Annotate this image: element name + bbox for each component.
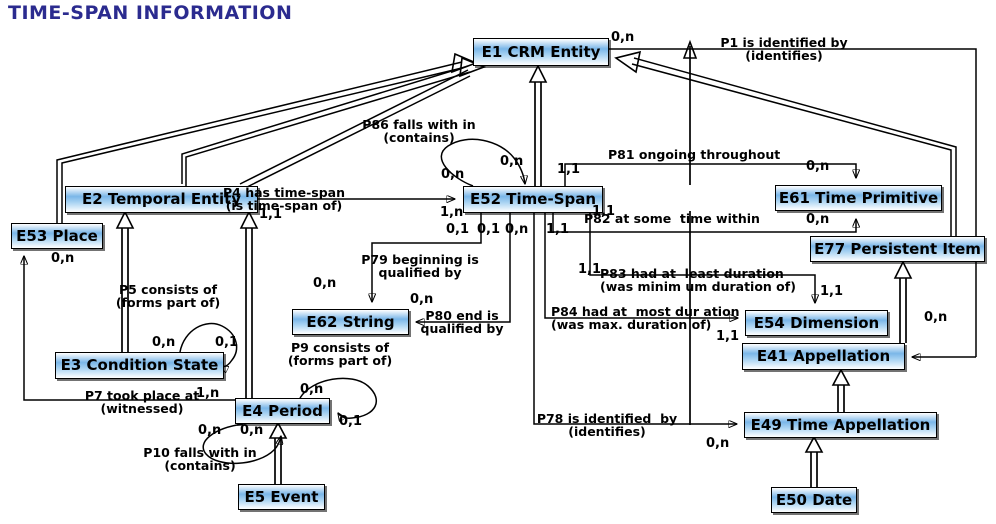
cardinality-label: 0,n xyxy=(198,424,221,438)
entity-box-e1[interactable]: E1 CRM Entity xyxy=(473,38,609,66)
relation-label-p10: P10 falls with in(contains) xyxy=(143,446,256,473)
cardinality-label: 0,n xyxy=(410,293,433,307)
relation-label-line1: P10 falls with in xyxy=(143,446,256,459)
entity-box-e52[interactable]: E52 Time-Span xyxy=(463,186,603,213)
entity-box-e3[interactable]: E3 Condition State xyxy=(55,352,224,379)
relation-label-p83: P83 had at least duration(was minim um d… xyxy=(600,267,796,294)
relation-label-p86: P86 falls with in(contains) xyxy=(362,118,475,145)
cardinality-label: 0,n xyxy=(611,31,634,45)
relation-label-line2: (is time-span of) xyxy=(223,199,345,212)
cardinality-label: 1,1 xyxy=(820,285,843,299)
relation-label-line1: P5 consists of xyxy=(116,283,220,296)
relation-label-p5: P5 consists of(forms part of) xyxy=(116,283,220,310)
relation-label-p1: P1 is identified by(identifies) xyxy=(720,36,847,63)
cardinality-label: 0,n xyxy=(51,252,74,266)
cardinality-label: 1,1 xyxy=(259,208,282,222)
relation-label-line1: P9 consists of xyxy=(288,341,392,354)
cardinality-label: 1,1 xyxy=(557,163,580,177)
relation-label-line2: qualified by xyxy=(421,322,504,335)
relation-label-line1: P84 had at most dur ation xyxy=(551,305,740,318)
cardinality-label: 0,n xyxy=(300,383,323,397)
entity-box-e5[interactable]: E5 Event xyxy=(238,484,325,510)
cardinality-label: 0,n xyxy=(152,336,175,350)
cardinality-label: 1,n xyxy=(196,387,219,401)
relation-label-line2: (witnessed) xyxy=(85,402,199,415)
entity-box-e49[interactable]: E49 Time Appellation xyxy=(744,412,937,438)
entity-box-e50[interactable]: E50 Date xyxy=(771,487,857,513)
relation-label-line1: P79 beginning is xyxy=(361,253,479,266)
cardinality-label: 0,n xyxy=(500,155,523,169)
entity-box-e61[interactable]: E61 Time Primitive xyxy=(775,185,942,211)
relation-label-p81: P81 ongoing throughout xyxy=(608,148,780,161)
cardinality-label: 0,n xyxy=(924,311,947,325)
entity-box-e54[interactable]: E54 Dimension xyxy=(745,310,888,336)
cardinality-label: 0,n xyxy=(806,160,829,174)
relation-label-p79: P79 beginning isqualified by xyxy=(361,253,479,280)
entity-box-e53[interactable]: E53 Place xyxy=(11,223,103,249)
relation-label-line2: (identifies) xyxy=(720,49,847,62)
relation-label-line2: (was max. duration of) xyxy=(551,318,740,331)
entity-box-e41[interactable]: E41 Appellation xyxy=(742,343,905,370)
relation-label-p7: P7 took place at(witnessed) xyxy=(85,389,199,416)
cardinality-label: 0,n xyxy=(240,424,263,438)
cardinality-label: 0,n xyxy=(313,277,336,291)
cardinality-label: 0,n xyxy=(706,437,729,451)
diagram-canvas: TIME-SPAN INFORMATION xyxy=(0,0,996,524)
relation-label-p78: P78 is identified by(identifies) xyxy=(537,412,677,439)
cardinality-label: 0,1 xyxy=(446,223,469,237)
relation-label-line1: P4 has time-span xyxy=(223,186,345,199)
relation-label-line2: (identifies) xyxy=(537,425,677,438)
relation-label-line1: P7 took place at xyxy=(85,389,199,402)
relation-label-p4: P4 has time-span(is time-span of) xyxy=(223,186,345,213)
relation-label-line1: P80 end is xyxy=(421,309,504,322)
cardinality-label: 1,1 xyxy=(592,205,615,219)
cardinality-label: 0,n xyxy=(505,223,528,237)
cardinality-label: 1,1 xyxy=(578,263,601,277)
cardinality-label: 0,1 xyxy=(215,336,238,350)
relation-label-line1: P1 is identified by xyxy=(720,36,847,49)
relation-label-line1: P81 ongoing throughout xyxy=(608,148,780,161)
relation-label-line2: (forms part of) xyxy=(116,296,220,309)
cardinality-label: 0,n xyxy=(441,168,464,182)
relation-label-line1: P86 falls with in xyxy=(362,118,475,131)
entity-box-e77[interactable]: E77 Persistent Item xyxy=(810,236,985,262)
relation-label-line1: P78 is identified by xyxy=(537,412,677,425)
cardinality-label: 1,1 xyxy=(716,330,739,344)
cardinality-label: 0,n xyxy=(806,213,829,227)
cardinality-label: 1,1 xyxy=(546,223,569,237)
entity-box-e62[interactable]: E62 String xyxy=(292,309,409,335)
relation-label-line1: P83 had at least duration xyxy=(600,267,796,280)
relation-label-line2: (was minim um duration of) xyxy=(600,280,796,293)
relation-label-line2: (contains) xyxy=(362,131,475,144)
relation-label-p80: P80 end isqualified by xyxy=(421,309,504,336)
cardinality-label: 1,n xyxy=(440,206,463,220)
entity-box-e4[interactable]: E4 Period xyxy=(235,398,330,424)
relation-label-p9: P9 consists of(forms part of) xyxy=(288,341,392,368)
relation-label-p84: P84 had at most dur ation(was max. durat… xyxy=(551,305,740,332)
relation-label-line2: (forms part of) xyxy=(288,354,392,367)
relation-label-line2: (contains) xyxy=(143,459,256,472)
cardinality-label: 0,1 xyxy=(339,415,362,429)
relation-label-line2: qualified by xyxy=(361,266,479,279)
cardinality-label: 0,1 xyxy=(477,223,500,237)
